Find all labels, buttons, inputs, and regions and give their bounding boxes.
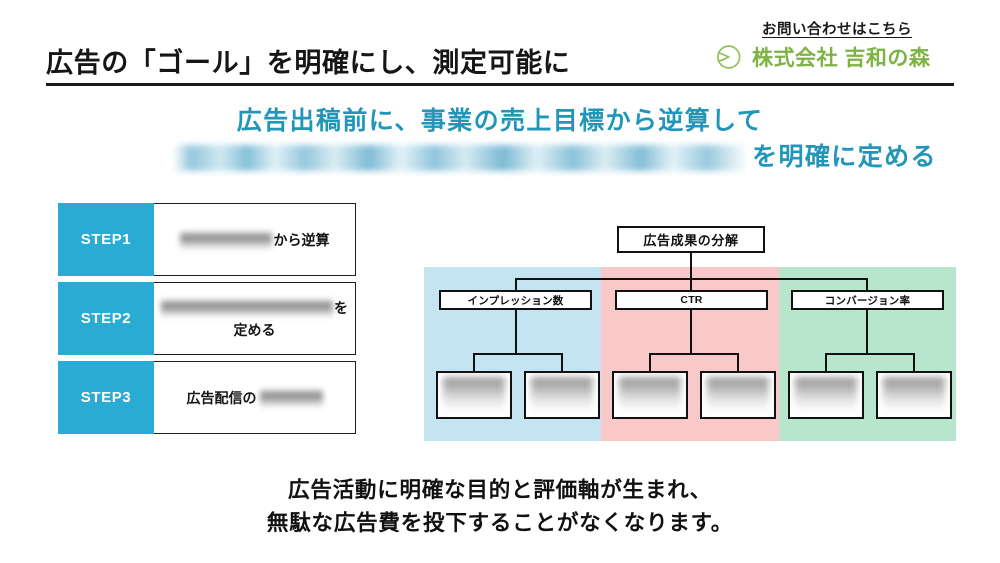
diagram-leaf-node: [700, 371, 776, 419]
diagram-node-conversion-rate: コンバージョン率: [791, 290, 944, 310]
connector-line: [866, 310, 868, 354]
diagram-node-ctr: CTR: [615, 290, 768, 310]
step-list: STEP1 から逆算 STEP2 を定める STEP3 広告配信の: [58, 203, 356, 440]
title-divider: [46, 83, 954, 86]
subtitle-line-2: を明確に定める: [0, 139, 1000, 175]
connector-line: [649, 353, 651, 371]
redacted-text-block: [707, 377, 769, 411]
brand-name: 株式会社 吉和の森: [752, 42, 930, 72]
step-body-3: 広告配信の: [154, 361, 356, 434]
step-row[interactable]: STEP3 広告配信の: [58, 361, 356, 434]
redacted-text-block: [173, 145, 748, 171]
step-row[interactable]: STEP1 から逆算: [58, 203, 356, 276]
subtitle-line-1: 広告出稿前に、事業の売上目標から逆算して: [0, 103, 1000, 139]
redacted-text-block: [883, 377, 945, 411]
step-row[interactable]: STEP2 を定める: [58, 282, 356, 355]
step-text-2-line2: 定める: [234, 322, 276, 338]
connector-line: [690, 310, 692, 354]
redacted-text-block: [180, 231, 272, 250]
company-circle-mark-icon: [713, 42, 743, 72]
step-body-1: から逆算: [154, 203, 356, 276]
ad-performance-breakdown-diagram: 広告成果の分解 インプレッション数 CTR コンバージョン率: [420, 226, 960, 441]
footer-line-2: 無駄な広告費を投下することがなくなります。: [0, 507, 1000, 540]
connector-line: [561, 353, 563, 371]
connector-line: [515, 278, 517, 290]
connector-line: [649, 353, 737, 355]
step-text-2: を: [334, 300, 348, 316]
diagram-leaf-node: [436, 371, 512, 419]
connector-line: [690, 253, 692, 279]
step-text-1: から逆算: [274, 232, 330, 248]
subtitle-block: 広告出稿前に、事業の売上目標から逆算して を明確に定める: [0, 103, 1000, 175]
connector-line: [473, 353, 561, 355]
diagram-root-node: 広告成果の分解: [617, 226, 765, 253]
footer-line-1: 広告活動に明確な目的と評価軸が生まれ、: [0, 474, 1000, 507]
diagram-leaf-node: [612, 371, 688, 419]
redacted-text-block: [161, 299, 333, 318]
diagram-leaf-node: [788, 371, 864, 419]
redacted-text-block: [531, 377, 593, 411]
connector-line: [515, 310, 517, 354]
step-badge-3: STEP3: [58, 361, 154, 434]
footer-summary: 広告活動に明確な目的と評価軸が生まれ、 無駄な広告費を投下することがなくなります…: [0, 474, 1000, 540]
diagram-leaf-node: [876, 371, 952, 419]
connector-line: [913, 353, 915, 371]
step-body-2: を定める: [154, 282, 356, 355]
connector-line: [825, 353, 913, 355]
connector-line: [866, 278, 868, 290]
redacted-text-block: [443, 377, 505, 411]
subtitle-line-2-suffix: を明確に定める: [752, 143, 937, 171]
step-badge-2: STEP2: [58, 282, 154, 355]
redacted-text-block: [260, 389, 323, 408]
diagram-node-impression: インプレッション数: [439, 290, 592, 310]
connector-line: [473, 353, 475, 371]
redacted-text-block: [795, 377, 857, 411]
brand-logo: 株式会社 吉和の森: [713, 42, 930, 72]
step-text-3: 広告配信の: [187, 390, 257, 406]
slide-canvas: お問い合わせはこちら 株式会社 吉和の森 広告の「ゴール」を明確にし、測定可能に…: [0, 0, 1000, 563]
step-badge-1: STEP1: [58, 203, 154, 276]
connector-line: [737, 353, 739, 371]
diagram-leaf-node: [524, 371, 600, 419]
connector-line: [825, 353, 827, 371]
redacted-text-block: [619, 377, 681, 411]
page-title: 広告の「ゴール」を明確にし、測定可能に: [46, 41, 570, 80]
connector-line: [690, 278, 692, 290]
contact-link[interactable]: お問い合わせはこちら: [762, 18, 912, 39]
